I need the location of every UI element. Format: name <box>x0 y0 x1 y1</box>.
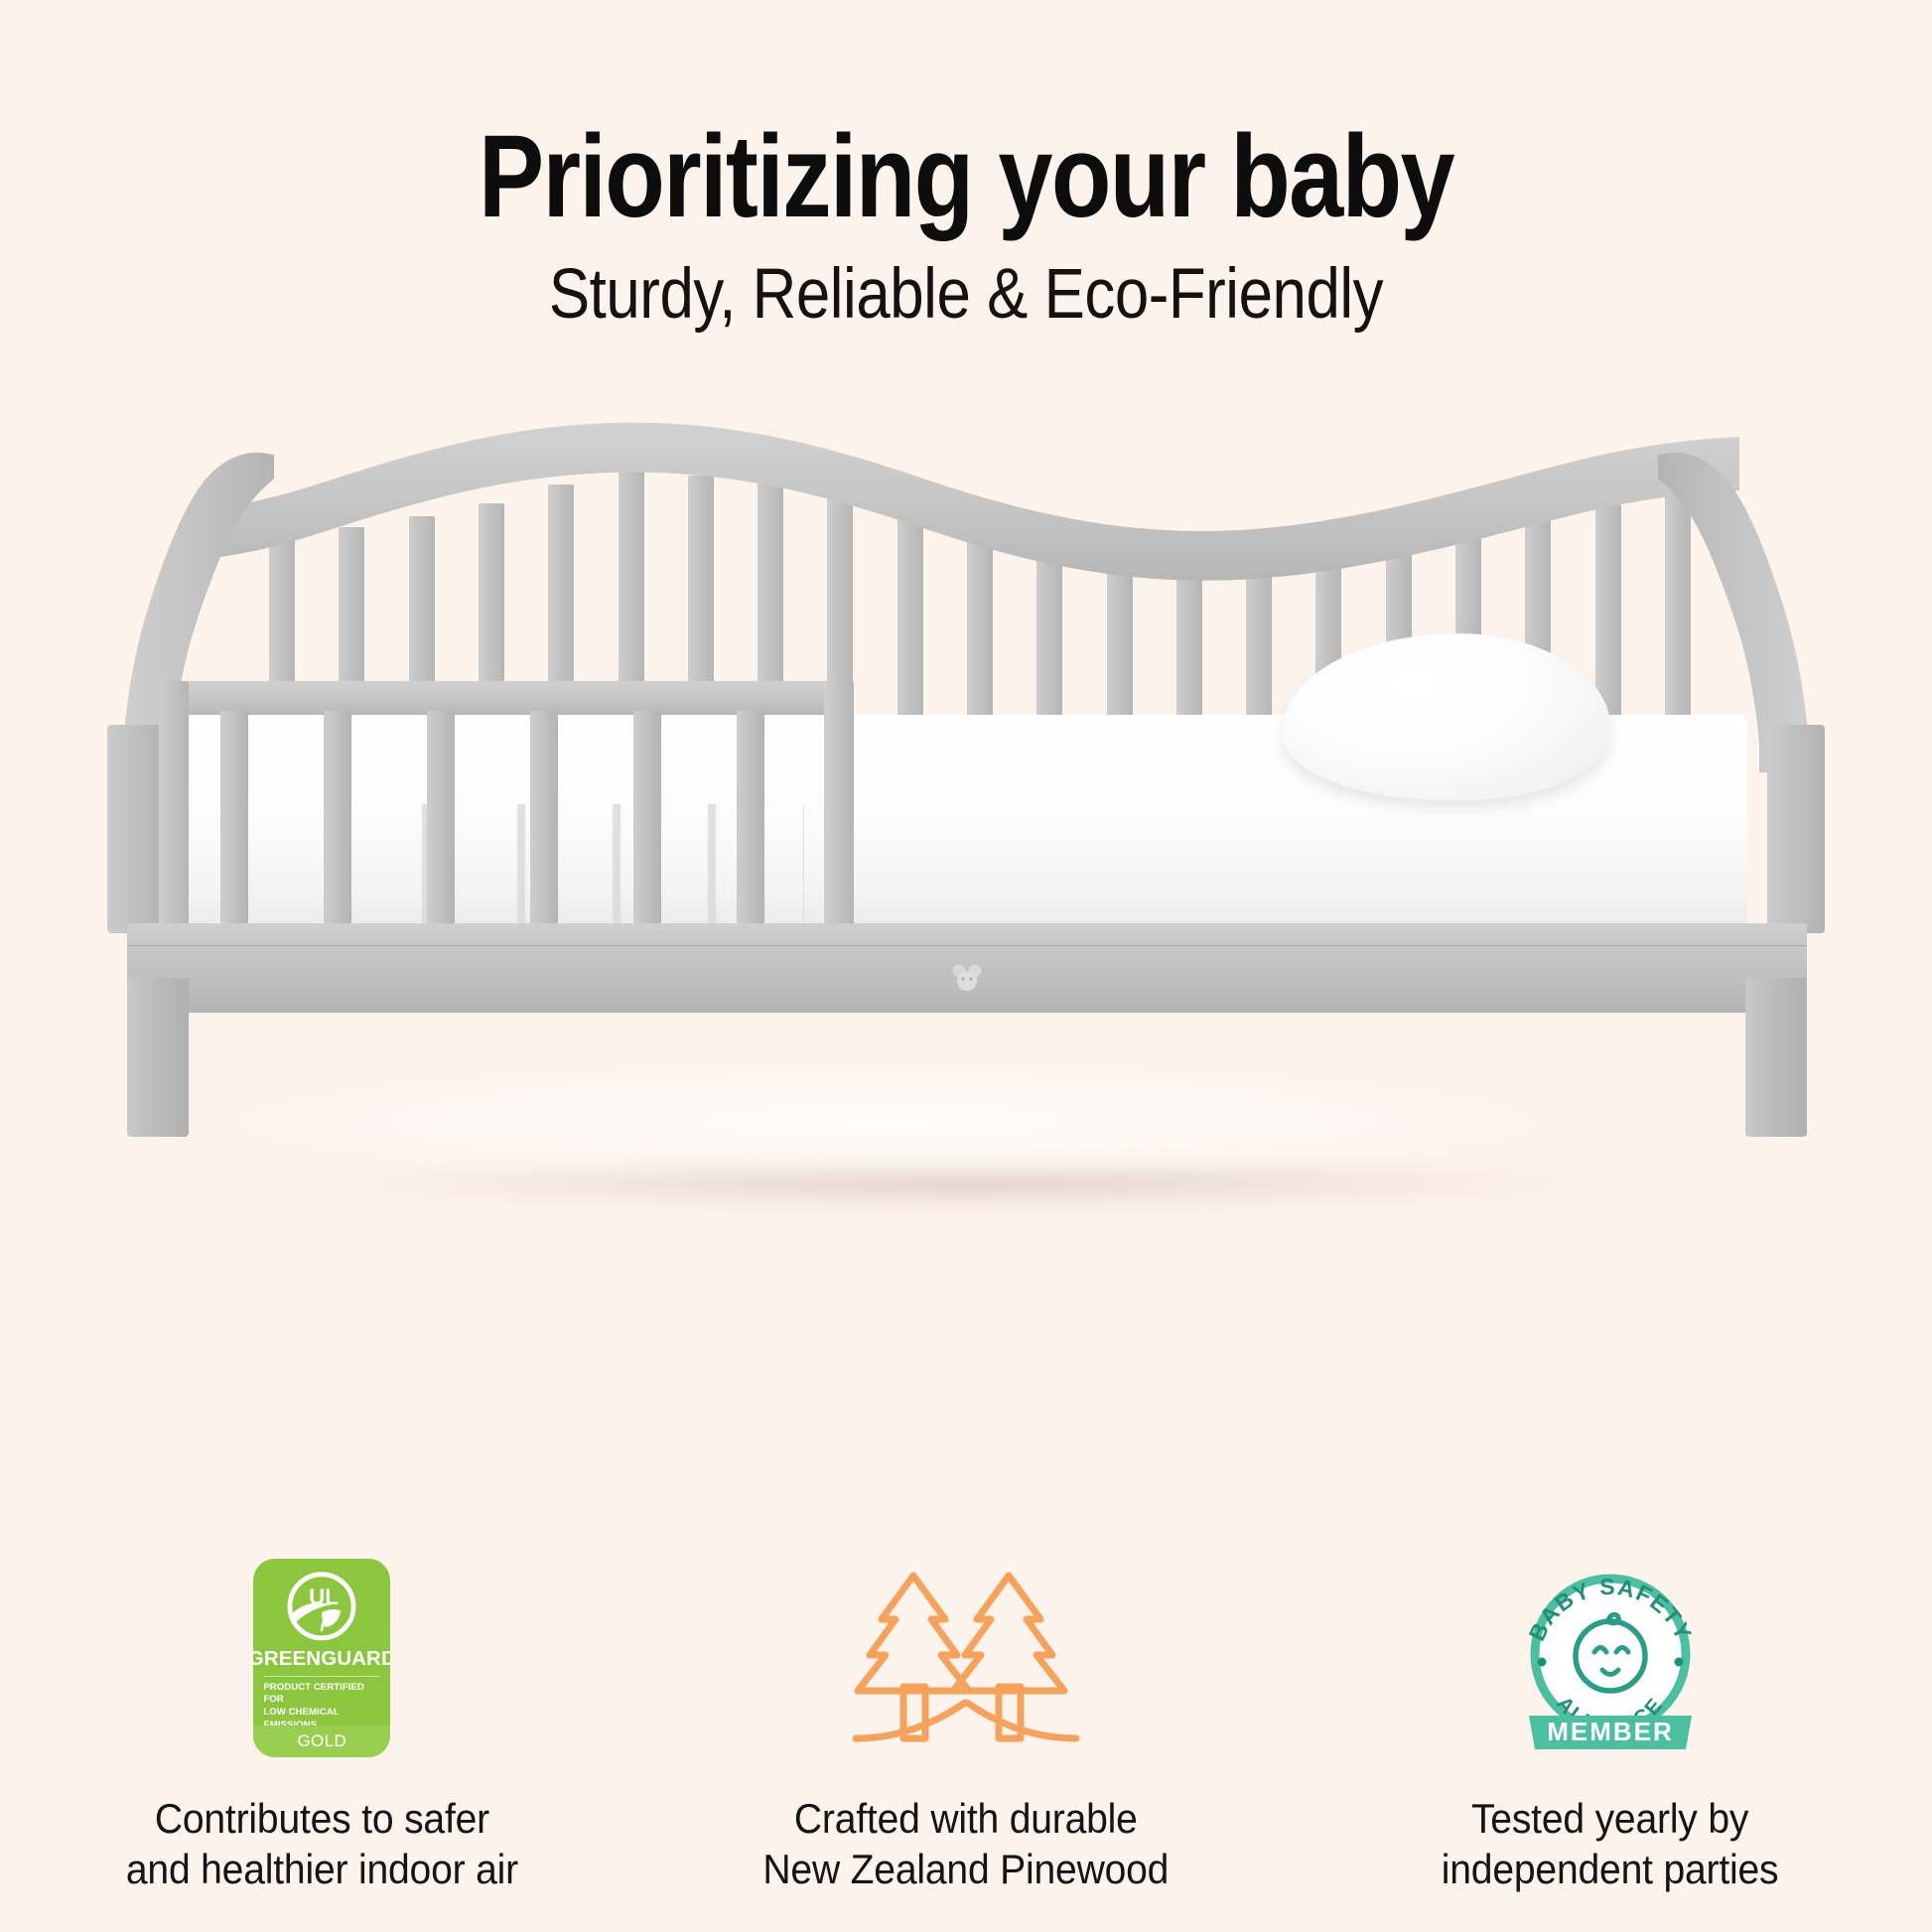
toddler-guard-rail <box>159 681 854 937</box>
svg-text:U: U <box>310 1585 326 1609</box>
left-end-post <box>107 725 165 933</box>
headboard-top-rail <box>195 419 1739 568</box>
ul-greenguard-mark-icon: U L <box>276 1570 367 1643</box>
caption-line-1: Contributes to safer <box>126 1793 518 1844</box>
guard-rail-slat <box>633 711 661 937</box>
caption-line-2: independent parties <box>1442 1844 1779 1894</box>
guard-rail-slat <box>530 711 558 937</box>
badge-ribbon-label: MEMBER <box>1547 1717 1674 1746</box>
left-leg <box>127 978 189 1137</box>
pine-trees-icon <box>852 1564 1080 1752</box>
right-end-post <box>1767 725 1825 933</box>
svg-text:L: L <box>326 1585 340 1609</box>
greenguard-line-1: PRODUCT CERTIFIED FOR <box>263 1682 380 1708</box>
greenguard-badge: U L GREENGUARD PRODUCT CERTIFIED FOR LOW… <box>253 1549 390 1767</box>
greenguard-level: GOLD <box>297 1731 346 1751</box>
feature-safety-alliance: BABY SAFETY ALLIANCE MEMBER <box>1288 1549 1932 1894</box>
guard-rail-post-left <box>159 681 189 937</box>
guard-rail-slat <box>324 711 351 937</box>
guard-rail-post-right <box>824 681 854 937</box>
guard-rail-slat <box>737 711 764 937</box>
guard-rail-slat <box>427 711 455 937</box>
feature-pinewood: Crafted with durable New Zealand Pinewoo… <box>644 1549 1289 1894</box>
feature-caption-pinewood: Crafted with durable New Zealand Pinewoo… <box>763 1793 1170 1894</box>
guard-rail-top <box>159 681 854 715</box>
feature-row: U L GREENGUARD PRODUCT CERTIFIED FOR LOW… <box>0 1549 1932 1894</box>
caption-line-1: Tested yearly by <box>1442 1793 1779 1844</box>
feature-greenguard: U L GREENGUARD PRODUCT CERTIFIED FOR LOW… <box>0 1549 644 1894</box>
guard-rail-slat <box>220 711 248 937</box>
page-subtitle: Sturdy, Reliable & Eco-Friendly <box>125 236 1806 333</box>
feature-caption-greenguard: Contributes to safer and healthier indoo… <box>126 1793 518 1894</box>
floor-glow <box>169 1062 1757 1211</box>
caption-line-2: and healthier indoor air <box>126 1844 518 1894</box>
brand-emblem-icon <box>950 963 984 993</box>
caption-line-1: Crafted with durable <box>763 1793 1170 1844</box>
front-apron-rail <box>127 923 1807 1013</box>
caption-line-2: New Zealand Pinewood <box>763 1844 1170 1894</box>
greenguard-name: GREENGUARD <box>253 1647 390 1671</box>
product-photo-daybed <box>0 427 1932 1221</box>
header: Prioritizing your baby Sturdy, Reliable … <box>0 0 1932 333</box>
marketing-image: Prioritizing your baby Sturdy, Reliable … <box>0 0 1932 1932</box>
baby-safety-alliance-badge-icon: BABY SAFETY ALLIANCE MEMBER <box>1511 1559 1710 1757</box>
right-leg <box>1745 978 1807 1137</box>
greenguard-divider <box>263 1676 380 1677</box>
page-title: Prioritizing your baby <box>155 0 1778 236</box>
greenguard-level-band: GOLD <box>253 1725 390 1757</box>
feature-caption-safety: Tested yearly by independent parties <box>1442 1793 1779 1894</box>
right-scrolled-arm <box>1658 445 1837 772</box>
